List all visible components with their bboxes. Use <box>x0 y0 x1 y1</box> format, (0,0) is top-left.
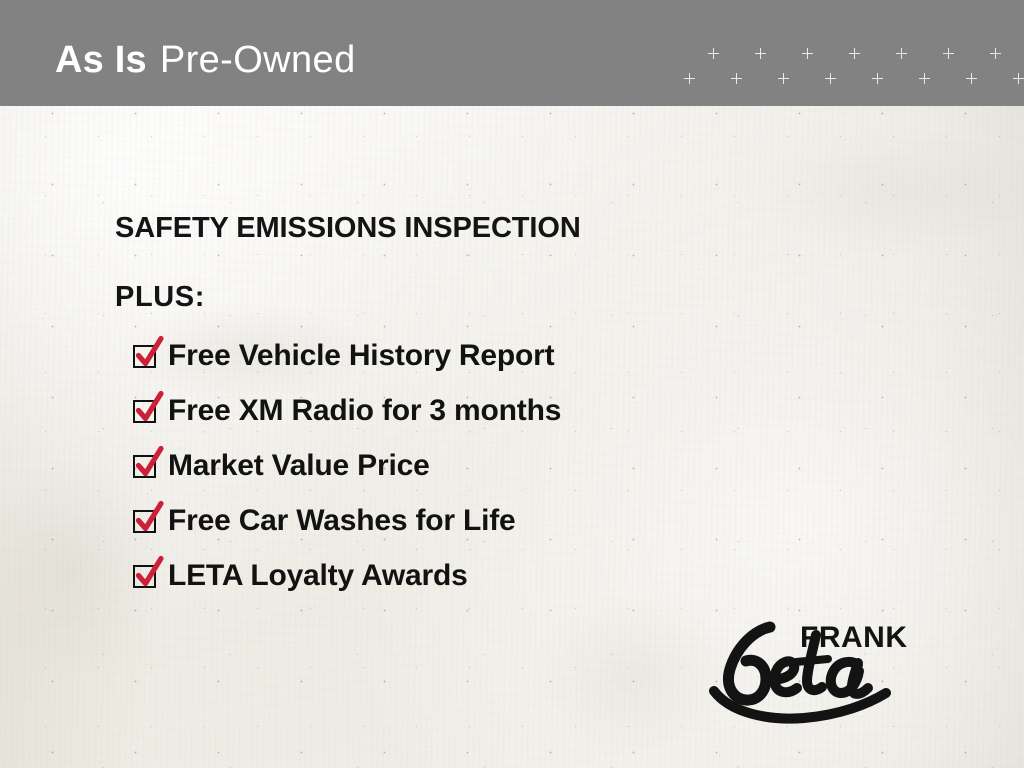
page-title-strong: As Is <box>55 39 147 81</box>
checkbox-checked-icon[interactable] <box>133 345 156 368</box>
plus-icon <box>825 73 836 84</box>
plus-icon <box>1013 73 1024 84</box>
checkbox-checked-icon[interactable] <box>133 400 156 423</box>
plus-icon <box>872 73 883 84</box>
plus-icon <box>755 48 766 59</box>
list-item: LETA Loyalty Awards <box>133 556 815 596</box>
plus-pattern-decoration <box>672 40 1024 92</box>
list-item: Free XM Radio for 3 months <box>133 391 815 431</box>
list-item-label: Free Vehicle History Report <box>168 339 554 373</box>
checkbox-checked-icon[interactable] <box>133 565 156 588</box>
page-title-regular: Pre-Owned <box>160 39 356 81</box>
checkbox-checked-icon[interactable] <box>133 510 156 533</box>
benefit-list: Free Vehicle History Report Free XM Radi… <box>115 314 815 596</box>
list-item: Free Car Washes for Life <box>133 501 815 541</box>
plus-icon <box>684 73 695 84</box>
list-item-label: Free XM Radio for 3 months <box>168 394 561 428</box>
content-area: SAFETY EMISSIONS INSPECTION PLUS: Free V… <box>115 210 815 611</box>
list-item: Free Vehicle History Report <box>133 336 815 376</box>
page-title: As IsPre-Owned <box>55 38 356 82</box>
list-item: Market Value Price <box>133 446 815 486</box>
plus-icon <box>896 48 907 59</box>
list-item-label: Free Car Washes for Life <box>168 504 516 538</box>
plus-icon <box>802 48 813 59</box>
list-item-label: LETA Loyalty Awards <box>168 559 468 593</box>
frank-leta-logo: FRANK <box>700 605 925 725</box>
plus-icon <box>990 48 1001 59</box>
plus-icon <box>849 48 860 59</box>
plus-label: PLUS: <box>115 246 815 314</box>
plus-icon <box>919 73 930 84</box>
safety-heading: SAFETY EMISSIONS INSPECTION <box>115 210 815 246</box>
plus-icon <box>731 73 742 84</box>
slide-canvas: As IsPre-Owned SAFETY EMISSIONS INSPECTI… <box>0 0 1024 768</box>
list-item-label: Market Value Price <box>168 449 430 483</box>
plus-icon <box>708 48 719 59</box>
header-bar: As IsPre-Owned <box>0 0 1024 106</box>
plus-icon <box>943 48 954 59</box>
plus-icon <box>778 73 789 84</box>
checkbox-checked-icon[interactable] <box>133 455 156 478</box>
plus-icon <box>966 73 977 84</box>
